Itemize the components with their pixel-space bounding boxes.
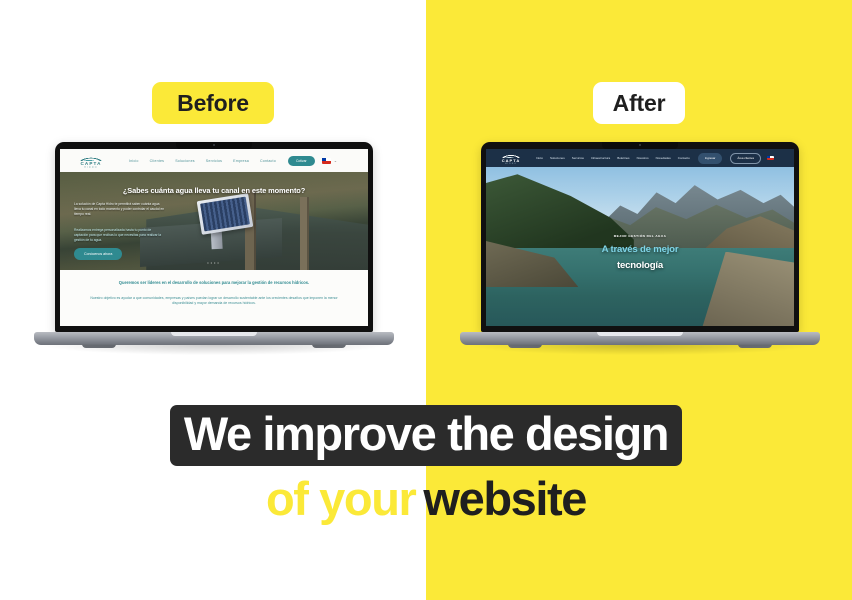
chevron-down-icon[interactable]: ⌄ (334, 158, 337, 163)
after-nav-item-1[interactable]: Soluciones (550, 156, 565, 160)
before-nav-item-4[interactable]: Empresa (233, 159, 249, 163)
laptop-mockup-before: CAPTA HIDRO Inicio Clientes Soluciones S… (34, 142, 394, 345)
before-navbar: CAPTA HIDRO Inicio Clientes Soluciones S… (60, 149, 368, 172)
before-logo-sub: HIDRO (84, 166, 98, 169)
before-nav-item-5[interactable]: Contacto (260, 159, 276, 163)
after-nav-item-2[interactable]: Servicios (572, 156, 584, 160)
before-hero: ¿Sabes cuánta agua lleva tu canal en est… (60, 172, 368, 270)
after-nav-clients-button[interactable]: Área clientes (730, 153, 761, 164)
headline-line2-accent: of your (252, 470, 415, 531)
headline-block: We improve the design of your website (0, 405, 852, 531)
laptop-screen-after: MEJOR GESTIÓN DEL AGUA A través de mejor… (486, 149, 794, 326)
headline-line2-rest: website (415, 470, 600, 531)
chile-flag-icon[interactable] (322, 158, 331, 164)
headline-line2-wrap: of your website (252, 470, 600, 531)
after-nav-item-7[interactable]: Contacto (678, 156, 690, 160)
laptop-base-after (460, 332, 820, 345)
laptop-shadow (470, 345, 810, 355)
before-body-section: Queremos ser líderes en el desarrollo de… (60, 270, 368, 326)
laptop-mockup-after: MEJOR GESTIÓN DEL AGUA A través de mejor… (460, 142, 820, 345)
website-after: MEJOR GESTIÓN DEL AGUA A través de mejor… (486, 149, 794, 326)
laptop-lid-before: CAPTA HIDRO Inicio Clientes Soluciones S… (55, 142, 373, 332)
badge-before: Before (152, 82, 274, 124)
before-hero-cta-button[interactable]: Conócenos ahora (74, 248, 122, 260)
after-nav-item-0[interactable]: Inicio (536, 156, 543, 160)
before-nav-links: Inicio Clientes Soluciones Servicios Emp… (129, 159, 276, 163)
after-nav-links: Inicio Soluciones Servicios Infraestruct… (536, 156, 690, 160)
poster-canvas: Before After CAPTA HIDRO Inicio (0, 0, 852, 600)
badge-before-label: Before (177, 90, 249, 117)
headline-row-1: We improve the design (0, 405, 852, 466)
headline-row-2: of your website (0, 470, 852, 531)
headline-line1-text: We improve the design (184, 410, 668, 457)
before-nav-item-2[interactable]: Soluciones (175, 159, 195, 163)
carousel-dots-icon[interactable]: •••• (60, 260, 368, 265)
after-hero-line2: tecnología (486, 260, 794, 271)
after-hero-line1: A través de mejor (486, 244, 794, 255)
after-hero: MEJOR GESTIÓN DEL AGUA A través de mejor… (486, 149, 794, 326)
before-logo[interactable]: CAPTA HIDRO (69, 152, 113, 170)
after-navbar: CAPTA HIDRO Inicio Soluciones Servicios … (486, 149, 794, 167)
before-hero-heading: ¿Sabes cuánta agua lleva tu canal en est… (60, 186, 368, 195)
laptop-lid-after: MEJOR GESTIÓN DEL AGUA A través de mejor… (481, 142, 799, 332)
website-before: CAPTA HIDRO Inicio Clientes Soluciones S… (60, 149, 368, 326)
after-logo[interactable]: CAPTA HIDRO (494, 151, 528, 165)
before-nav-item-0[interactable]: Inicio (129, 159, 139, 163)
before-hero-paragraph-2: Realizamos entrega personalizada hasta t… (74, 228, 166, 243)
laptop-screen-before: CAPTA HIDRO Inicio Clientes Soluciones S… (60, 149, 368, 326)
after-logo-sub: HIDRO (505, 163, 517, 165)
webcam-notch-icon (602, 142, 678, 149)
before-body-paragraph: Nuestro objetivo es ayudar a que comunid… (86, 296, 342, 308)
after-nav-item-4[interactable]: Boletines (617, 156, 629, 160)
laptop-base-before (34, 332, 394, 345)
wave-logo-icon (501, 151, 521, 158)
before-hero-paragraph: La solución de Capta Hidro te permitirá … (74, 202, 166, 217)
after-hero-kicker: MEJOR GESTIÓN DEL AGUA (486, 234, 794, 238)
before-nav-item-1[interactable]: Clientes (150, 159, 165, 163)
before-nav-cta-button[interactable]: Cotizar (288, 156, 315, 166)
before-body-heading: Queremos ser líderes en el desarrollo de… (86, 280, 342, 287)
after-nav-item-3[interactable]: Infraestructura (591, 156, 610, 160)
badge-after-label: After (613, 90, 666, 117)
headline-line1-box: We improve the design (170, 405, 682, 466)
wave-logo-icon (78, 152, 104, 161)
after-nav-item-6[interactable]: Novedades (656, 156, 671, 160)
before-nav-item-3[interactable]: Servicios (206, 159, 222, 163)
after-nav-login-button[interactable]: Ingresar (698, 153, 723, 164)
webcam-notch-icon (176, 142, 252, 149)
chile-flag-icon[interactable] (767, 156, 774, 161)
laptop-shadow (44, 345, 384, 355)
badge-after: After (593, 82, 685, 124)
after-nav-item-5[interactable]: Nosotros (637, 156, 649, 160)
